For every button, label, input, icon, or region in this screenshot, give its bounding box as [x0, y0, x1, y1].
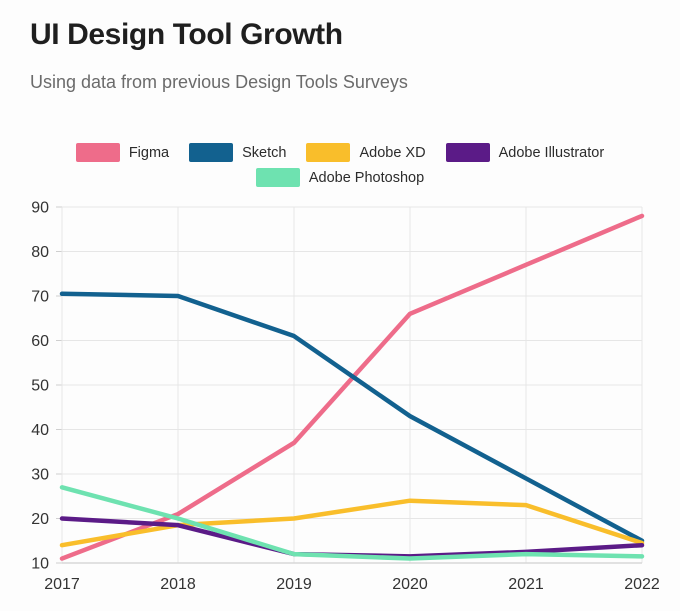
chart-page: UI Design Tool Growth Using data from pr… — [0, 0, 680, 611]
legend-swatch-icon-figma — [76, 143, 120, 162]
legend-item-adobe-photoshop[interactable]: Adobe Photoshop — [256, 168, 424, 187]
legend-label-sketch: Sketch — [242, 145, 286, 161]
page-subtitle: Using data from previous Design Tools Su… — [30, 72, 408, 93]
legend-label-adobe-xd: Adobe XD — [359, 145, 425, 161]
x-axis-tick-label: 2021 — [508, 576, 544, 593]
y-axis-tick-label: 40 — [31, 422, 49, 439]
y-axis-tick-label: 30 — [31, 467, 49, 484]
series-line-sketch[interactable] — [62, 294, 642, 541]
y-axis-tick-label: 80 — [31, 244, 49, 261]
legend-row-secondary: Adobe Photoshop — [0, 165, 680, 190]
legend-item-figma[interactable]: Figma — [76, 143, 169, 162]
y-axis-tick-label: 20 — [31, 511, 49, 528]
x-axis-tick-label: 2020 — [392, 576, 428, 593]
x-axis-tick-label: 2017 — [44, 576, 80, 593]
chart-plot-area: 102030405060708090 201720182019202020212… — [0, 196, 680, 611]
x-axis-tick-label: 2019 — [276, 576, 312, 593]
page-title: UI Design Tool Growth — [30, 18, 343, 52]
y-axis-tick-label: 60 — [31, 333, 49, 350]
legend-row-primary: Figma Sketch Adobe XD Adobe Illustrator — [0, 140, 680, 165]
series-line-adobe-illustrator[interactable] — [62, 519, 642, 557]
legend-item-sketch[interactable]: Sketch — [189, 143, 286, 162]
legend-label-adobe-illustrator: Adobe Illustrator — [499, 145, 605, 161]
y-axis-tick-label: 50 — [31, 378, 49, 395]
legend-item-adobe-illustrator[interactable]: Adobe Illustrator — [446, 143, 605, 162]
line-chart-svg: 102030405060708090 201720182019202020212… — [0, 196, 680, 611]
chart-x-axis-ticks: 201720182019202020212022 — [44, 576, 660, 593]
y-axis-tick-label: 70 — [31, 289, 49, 306]
y-axis-tick-label: 90 — [31, 200, 49, 217]
legend-swatch-icon-adobe-photoshop — [256, 168, 300, 187]
chart-series-lines — [62, 216, 642, 559]
series-line-figma[interactable] — [62, 216, 642, 559]
legend-label-adobe-photoshop: Adobe Photoshop — [309, 170, 424, 186]
legend-item-adobe-xd[interactable]: Adobe XD — [306, 143, 425, 162]
legend-swatch-icon-adobe-illustrator — [446, 143, 490, 162]
chart-y-axis-ticks: 102030405060708090 — [31, 200, 49, 573]
x-axis-tick-label: 2018 — [160, 576, 196, 593]
chart-legend: Figma Sketch Adobe XD Adobe Illustrator … — [0, 140, 680, 190]
legend-label-figma: Figma — [129, 145, 169, 161]
y-axis-tick-label: 10 — [31, 556, 49, 573]
x-axis-tick-label: 2022 — [624, 576, 660, 593]
legend-swatch-icon-adobe-xd — [306, 143, 350, 162]
legend-swatch-icon-sketch — [189, 143, 233, 162]
